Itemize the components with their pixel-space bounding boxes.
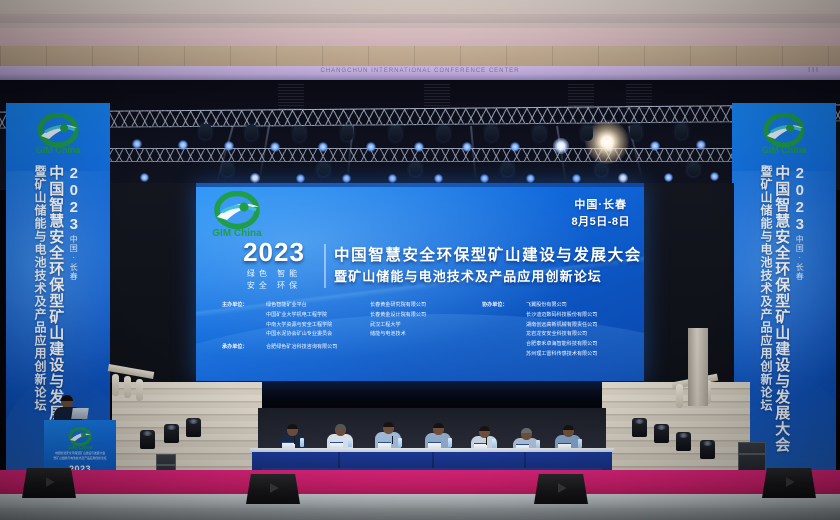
screen-slogan-line2: 安全 环保	[226, 280, 322, 292]
floor-monitor-speaker	[246, 474, 300, 504]
table-microphone	[486, 437, 487, 445]
moving-head-fixture	[294, 126, 305, 141]
table-microphone	[294, 436, 295, 444]
organizer-value: 合肥绿色矿冶科技咨询有限公司	[266, 343, 472, 353]
water-bottle	[578, 439, 582, 448]
stage-lamp	[650, 141, 660, 151]
baluster	[112, 374, 119, 396]
panelist-hair	[521, 428, 532, 433]
coorganizer-label-spacer	[482, 311, 526, 321]
stage-lamp	[696, 140, 706, 150]
stage-lamp	[710, 172, 719, 181]
screen-dates: 8月5日-8日	[571, 214, 630, 231]
svg-text:GIM China: GIM China	[36, 145, 81, 155]
water-bottle	[492, 439, 496, 448]
panelist-hair	[433, 423, 444, 428]
floor-moving-light	[140, 430, 155, 449]
screen-top-bar	[196, 183, 644, 187]
stage-lamp	[270, 142, 280, 152]
floor-monitor-speaker	[762, 468, 816, 498]
stage-lamp	[318, 142, 328, 152]
screen-date-location: 中国·长春 8月5日-8日	[571, 197, 630, 230]
floor-moving-light	[632, 418, 647, 437]
coorganizer-label-spacer	[482, 340, 526, 350]
coorganizer-row: 合肥泰禾卓海智能科技有限公司	[482, 340, 642, 350]
stage-lamp	[664, 173, 673, 182]
host-label-spacer	[222, 330, 266, 340]
moving-head-fixture	[676, 124, 687, 139]
conference-subtitle: 暨矿山储能与电池技术及产品应用创新论坛	[334, 269, 642, 286]
baluster	[124, 376, 131, 398]
right-banner-location: 中国·长春	[794, 235, 805, 281]
stage-lamp	[572, 174, 581, 183]
moving-head-fixture	[318, 163, 329, 176]
coorganizer-row: 长沙迪迈数码科技股份有限公司	[482, 311, 642, 321]
floor-moving-light	[700, 440, 715, 459]
floor-monitor-speaker	[534, 474, 588, 504]
moving-head-fixture	[342, 126, 353, 141]
stage-lamp	[434, 174, 443, 183]
moving-head-fixture	[410, 163, 421, 176]
floor-monitor-speaker	[22, 468, 76, 498]
stage-lamp	[526, 174, 535, 183]
coorganizer-label: 协办单位：	[482, 301, 526, 311]
coorganizer-label-spacer	[482, 330, 526, 340]
screen-year-block: 2023 绿色 智能 安全 环保	[226, 239, 322, 293]
coorganizer-label-spacer	[482, 321, 526, 331]
floor-moving-light	[164, 424, 179, 443]
baluster	[136, 379, 143, 401]
sponsor-block: 主办单位： 绿色智能矿业平台 长春黄金研究院有限公司 中国矿业大学机电工程学院 …	[222, 301, 634, 360]
right-banner-title: 中国智慧安全环保型矿山建设与发展大会	[774, 165, 789, 479]
podium-title-lines: 中国智慧安全环保型矿山建设与发展大会 暨矿山储能与电池技术及产品应用创新论坛	[49, 451, 111, 461]
screen-year: 2023	[226, 239, 322, 265]
stage-lamp	[132, 139, 142, 149]
screen-city: 中国·长春	[571, 197, 630, 214]
panelist-hair	[479, 426, 490, 431]
stage-lamp	[342, 174, 351, 183]
host-label-spacer	[222, 321, 266, 331]
coorganizer-5: 苏州理工雷科传感技术有限公司	[526, 350, 642, 360]
screen-slogan-line1: 绿色 智能	[226, 268, 322, 280]
stage-lamp	[480, 174, 489, 183]
water-bottle	[398, 438, 402, 447]
back-wall-left	[110, 183, 198, 383]
water-bottle	[448, 438, 452, 447]
organizer-row: 承办单位： 合肥绿色矿冶科技咨询有限公司	[222, 343, 472, 353]
stone-column	[688, 328, 708, 406]
coorganizer-row: 苏州理工雷科传感技术有限公司	[482, 350, 642, 360]
organizer-label: 承办单位：	[222, 343, 266, 353]
ceiling-band	[0, 14, 840, 23]
screen-titles: 中国智慧安全环保型矿山建设与发展大会 暨矿山储能与电池技术及产品应用创新论坛	[334, 246, 642, 285]
coorganizer-row: 龙岩龙安安全科技有限公司	[482, 330, 642, 340]
coorganizer-row: 协办单位： 飞翼股份有限公司	[482, 301, 642, 311]
coorganizer-0: 飞翼股份有限公司	[526, 301, 642, 311]
venue-sign-right: III	[808, 67, 820, 74]
moving-head-fixture	[630, 125, 641, 140]
coorganizer-4: 合肥泰禾卓海智能科技有限公司	[526, 340, 642, 350]
ceiling-grille	[278, 84, 304, 110]
gim-china-logo-icon: GIM China	[65, 427, 95, 451]
podium-line2: 暨矿山储能与电池技术及产品应用创新论坛	[49, 456, 111, 461]
stage-lamp	[224, 141, 234, 151]
moving-head-fixture	[200, 124, 211, 139]
stage-lamp	[140, 173, 149, 182]
moving-head-fixture	[688, 163, 699, 176]
water-bottle	[348, 438, 352, 447]
venue-sign: CHANGCHUN INTERNATIONAL CONFERENCE CENTE…	[320, 68, 519, 74]
host-row: 中国水泥协会矿山专业委员会 储能与电池技术	[222, 330, 472, 340]
stage-lamp	[618, 173, 628, 183]
host-sponsors: 主办单位： 绿色智能矿业平台 长春黄金研究院有限公司 中国矿业大学机电工程学院 …	[222, 301, 472, 360]
moving-head-fixture	[534, 126, 545, 141]
moving-head-fixture	[486, 126, 497, 141]
coorganizer-label-spacer	[482, 350, 526, 360]
lighting-truss-lower	[60, 148, 790, 162]
moving-head-fixture	[438, 126, 449, 141]
coorganizer-row: 湖南创远高新机械有限责任公司	[482, 321, 642, 331]
host-row: 中国矿业大学机电工程学院 长春黄金设计院有限公司	[222, 311, 472, 321]
stage-lamp	[296, 174, 305, 183]
ceiling	[0, 0, 840, 46]
conference-stage-photo: CHANGCHUN INTERNATIONAL CONFERENCE CENTE…	[0, 0, 840, 520]
host-col2-0: 长春黄金研究院有限公司	[370, 301, 472, 311]
svg-text:GIM China: GIM China	[762, 145, 807, 155]
panelist-hair	[287, 424, 298, 429]
speaker-hair	[61, 395, 73, 401]
table-microphone	[392, 436, 393, 444]
host-col1-3: 中国水泥协会矿山专业委员会	[266, 330, 370, 340]
stage-lamp	[510, 142, 520, 152]
stage-lamp	[178, 140, 188, 150]
stage-lamp	[462, 142, 472, 152]
coorganizer-sponsors: 协办单位： 飞翼股份有限公司 长沙迪迈数码科技股份有限公司 湖南创远高新机械有限…	[482, 301, 642, 360]
screen-title-block: 2023 绿色 智能 安全 环保 中国智慧安全环保型矿山建设与发展大会 暨矿山储…	[226, 239, 632, 293]
left-banner-location: 中国·长春	[68, 235, 79, 281]
moving-head-fixture	[390, 126, 401, 141]
host-col2-2: 武汉工程大学	[370, 321, 472, 331]
host-col1-2: 中南大学资源与安全工程学院	[266, 321, 370, 331]
floor-moving-light	[186, 418, 201, 437]
moving-head-fixture	[222, 163, 233, 176]
host-col2-3: 储能与电池技术	[370, 330, 472, 340]
stage-lamp	[388, 174, 397, 183]
coorganizer-1: 长沙迪迈数码科技股份有限公司	[526, 311, 642, 321]
host-row: 主办单位： 绿色智能矿业平台 长春黄金研究院有限公司	[222, 301, 472, 311]
gim-china-logo-icon: GIM China	[757, 113, 811, 157]
stage-lamp	[414, 142, 424, 152]
stage-front-edge-lower	[0, 508, 840, 520]
right-banner-year: 2023	[791, 165, 808, 233]
podium-laptop	[71, 408, 89, 419]
host-col2-1: 长春黄金设计院有限公司	[370, 311, 472, 321]
host-row: 中南大学资源与安全工程学院 武汉工程大学	[222, 321, 472, 331]
left-banner-year: 2023	[65, 165, 82, 233]
moving-head-fixture	[246, 125, 257, 140]
moving-head-fixture	[502, 163, 513, 176]
host-col1-1: 中国矿业大学机电工程学院	[266, 311, 370, 321]
baluster	[676, 384, 683, 408]
moving-head-fixture	[582, 126, 593, 141]
floor-moving-light	[654, 424, 669, 443]
panelist-hair	[563, 425, 574, 430]
gim-china-logo-icon: GIM China	[31, 113, 85, 157]
title-divider	[324, 244, 326, 288]
host-label: 主办单位：	[222, 301, 266, 311]
cornice-molding	[0, 46, 840, 68]
panelist-hair	[335, 424, 346, 429]
main-led-screen: GIM China 中国·长春 8月5日-8日 2023 绿色 智能 安全 环保…	[196, 183, 644, 381]
stage-lamp	[250, 173, 260, 183]
screen-slogan: 绿色 智能 安全 环保	[226, 268, 322, 293]
water-bottle	[300, 438, 304, 447]
floor-moving-light	[676, 432, 691, 451]
gim-china-logo-icon: GIM China	[206, 191, 268, 241]
coorganizer-2: 湖南创远高新机械有限责任公司	[526, 321, 642, 331]
ceiling-grille	[424, 84, 450, 110]
stage-lamp	[366, 142, 376, 152]
conference-title: 中国智慧安全环保型矿山建设与发展大会	[334, 246, 642, 265]
host-label-spacer	[222, 311, 266, 321]
right-banner-subtitle: 暨矿山储能与电池技术及产品应用创新论坛	[760, 165, 772, 479]
panelist-hair	[383, 422, 394, 427]
host-col1-0: 绿色智能矿业平台	[266, 301, 370, 311]
moving-head-fixture	[596, 163, 607, 176]
stage-lamp-bright	[553, 138, 569, 154]
coorganizer-3: 龙岩龙安安全科技有限公司	[526, 330, 642, 340]
